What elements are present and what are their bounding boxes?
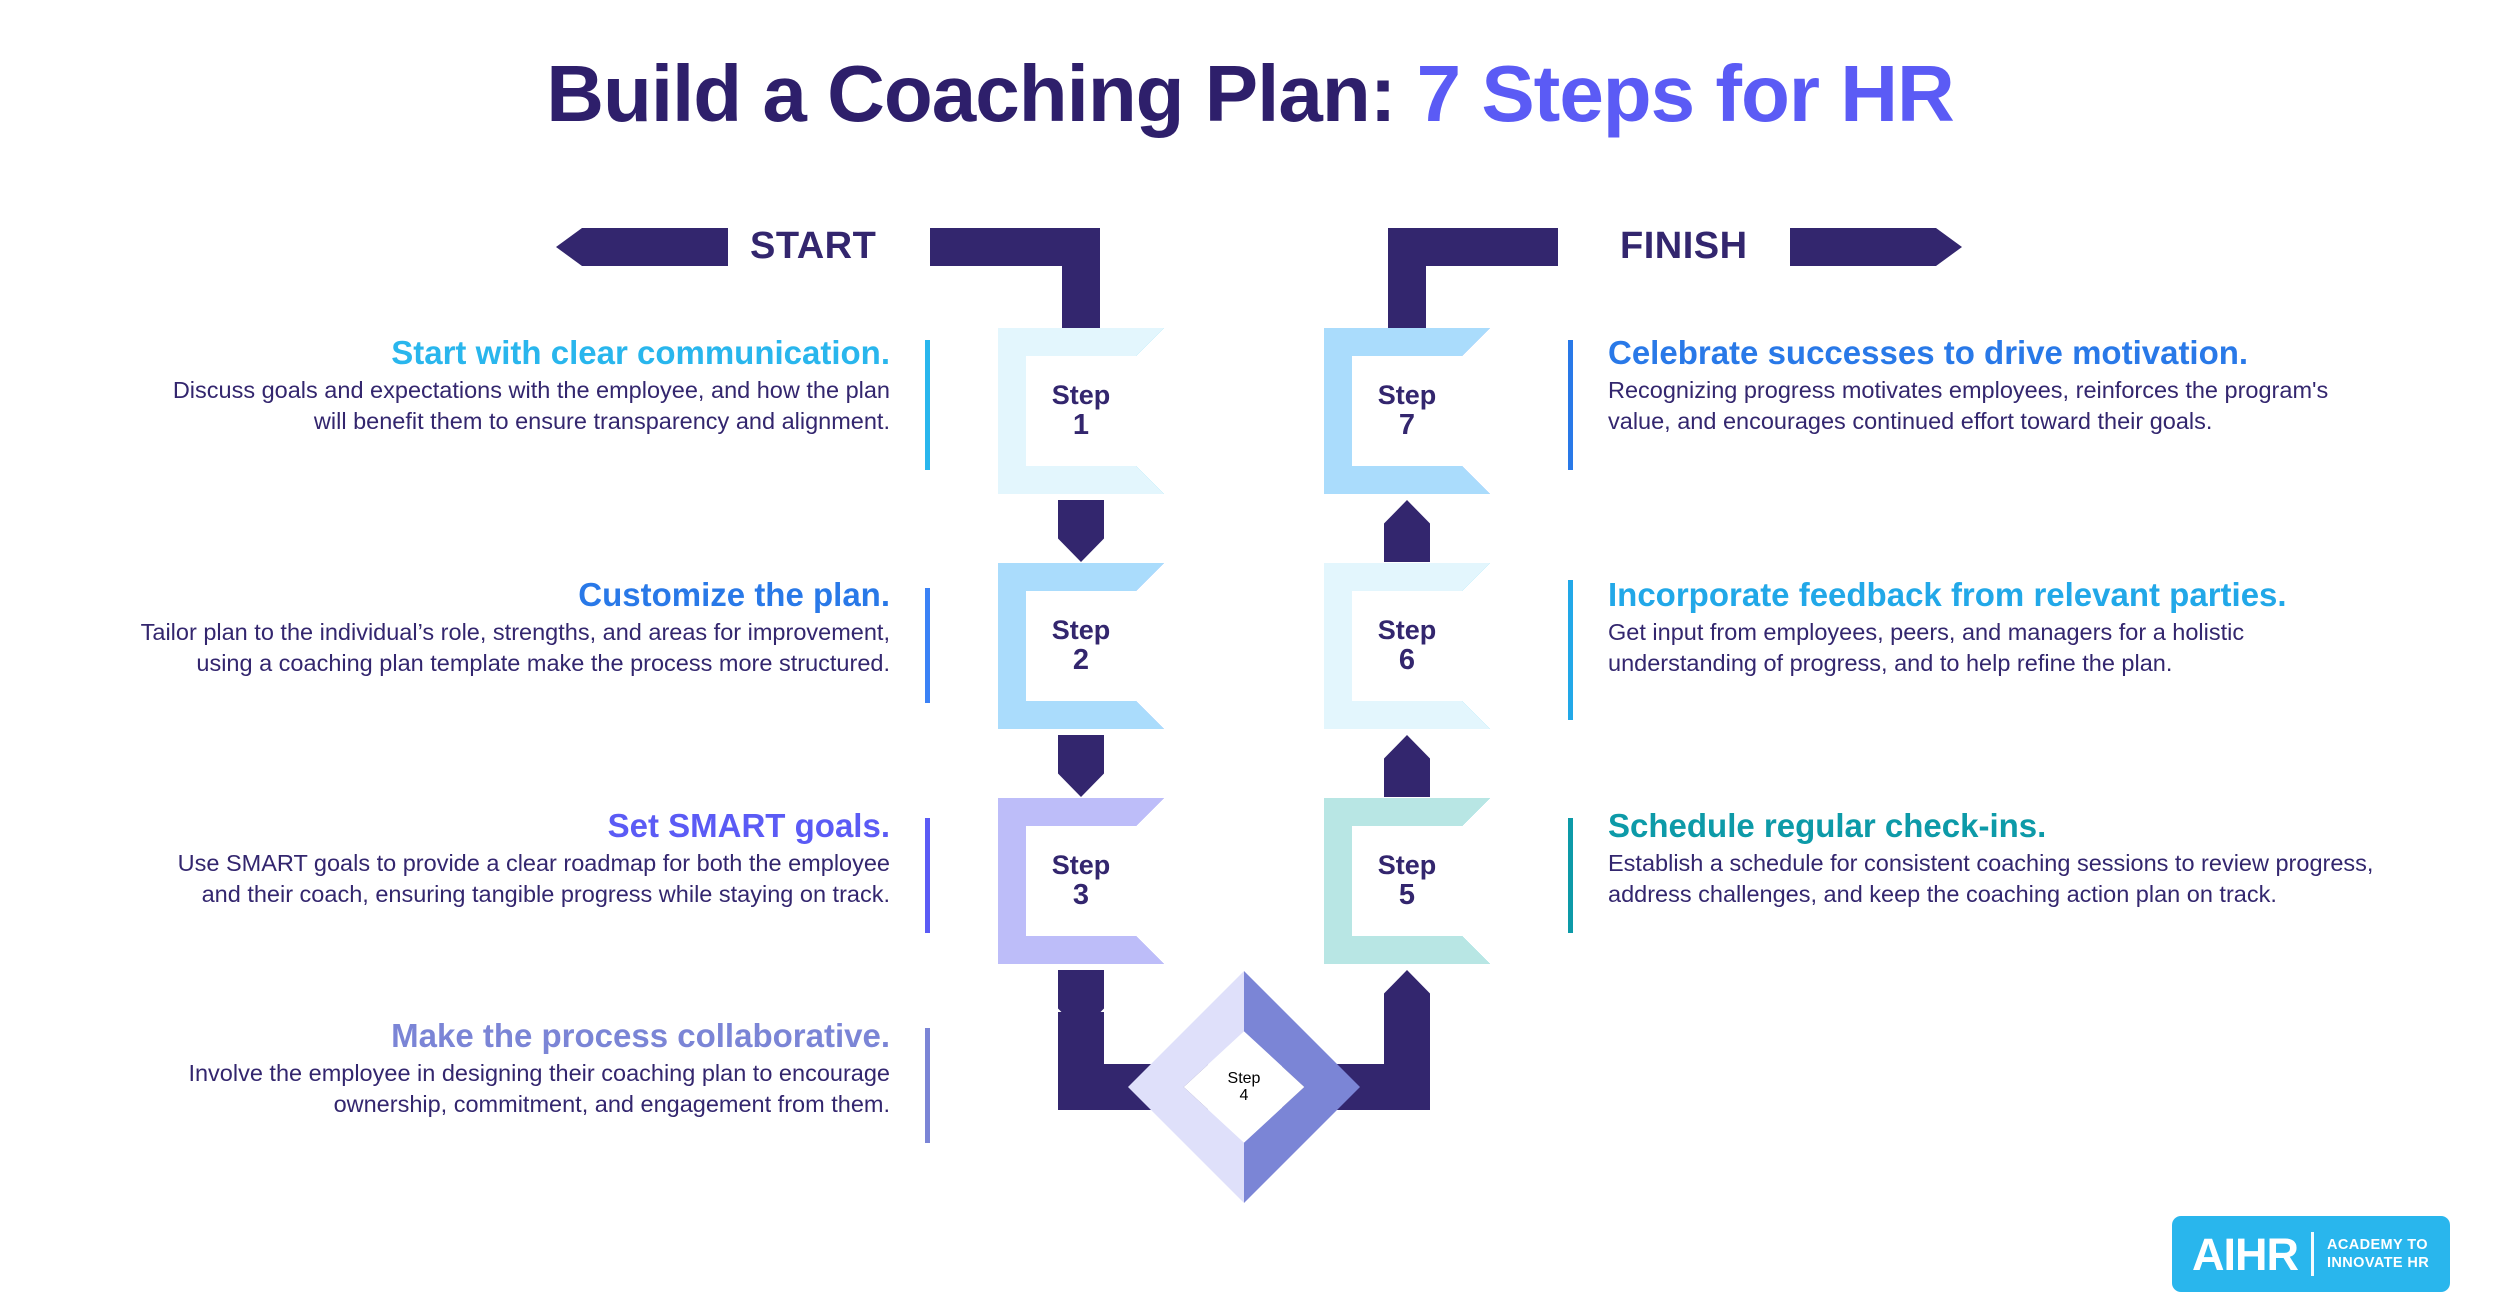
finish-arrow-head: [1790, 228, 1962, 266]
step-6-rule: [1568, 580, 1573, 720]
step-badge-5-core: Step 5: [1352, 826, 1462, 936]
step-badge-1-label: Step: [1052, 381, 1111, 410]
step-4-heading: Make the process collaborative.: [130, 1018, 890, 1055]
step-badge-3-core: Step 3: [1026, 826, 1136, 936]
step-3-rule: [925, 818, 930, 933]
step-1-rule: [925, 340, 930, 470]
step-badge-5-number: 5: [1399, 880, 1415, 911]
step-badge-3[interactable]: Step 3: [998, 798, 1164, 964]
step-7-text: Celebrate successes to drive motivation.…: [1608, 335, 2388, 437]
step-badge-4-label: Step: [1228, 1070, 1261, 1087]
connector-step2-to-step3: [1058, 735, 1104, 797]
step-4-body: Involve the employee in designing their …: [130, 1058, 890, 1121]
step-2-body: Tailor plan to the individual’s role, st…: [140, 617, 890, 680]
aihr-logo-tagline-line1: ACADEMY TO: [2327, 1236, 2429, 1254]
aihr-logo-divider: [2311, 1232, 2314, 1276]
start-arrow-tail: [556, 228, 728, 266]
step-badge-6-label: Step: [1378, 616, 1437, 645]
step-3-body: Use SMART goals to provide a clear roadm…: [140, 848, 890, 911]
connector-step6-to-step7: [1384, 500, 1430, 562]
step-5-text: Schedule regular check-ins. Establish a …: [1608, 808, 2388, 910]
step-2-text: Customize the plan. Tailor plan to the i…: [140, 577, 890, 679]
finish-connector-bar: [1388, 228, 1558, 266]
step-4-text: Make the process collaborative. Involve …: [130, 1018, 890, 1120]
step-3-text: Set SMART goals. Use SMART goals to prov…: [140, 808, 890, 910]
step-5-body: Establish a schedule for consistent coac…: [1608, 848, 2388, 911]
page-title-main: Build a Coaching Plan:: [546, 49, 1416, 138]
infographic-canvas: Build a Coaching Plan: 7 Steps for HR ST…: [0, 0, 2500, 1307]
step-7-body: Recognizing progress motivates employees…: [1608, 375, 2388, 438]
step-badge-2-number: 2: [1073, 645, 1089, 676]
step-2-heading: Customize the plan.: [140, 577, 890, 614]
connector-step1-to-step2: [1058, 500, 1104, 562]
step-badge-6-number: 6: [1399, 645, 1415, 676]
step-6-body: Get input from employees, peers, and man…: [1608, 617, 2388, 680]
step-4-rule: [925, 1028, 930, 1143]
step-badge-3-label: Step: [1052, 851, 1111, 880]
step-badge-7[interactable]: Step 7: [1324, 328, 1490, 494]
step-badge-2-core: Step 2: [1026, 591, 1136, 701]
step-badge-4-number: 4: [1240, 1087, 1249, 1104]
step-6-heading: Incorporate feedback from relevant parti…: [1608, 577, 2388, 614]
step-badge-3-number: 3: [1073, 880, 1089, 911]
step-7-heading: Celebrate successes to drive motivation.: [1608, 335, 2388, 372]
step-1-heading: Start with clear communication.: [140, 335, 890, 372]
step-badge-2[interactable]: Step 2: [998, 563, 1164, 729]
step-badge-1[interactable]: Step 1: [998, 328, 1164, 494]
step-badge-1-core: Step 1: [1026, 356, 1136, 466]
step-1-body: Discuss goals and expectations with the …: [140, 375, 890, 438]
step-5-rule: [1568, 818, 1573, 933]
step-badge-1-number: 1: [1073, 410, 1089, 441]
start-label: START: [750, 225, 876, 268]
step-1-text: Start with clear communication. Discuss …: [140, 335, 890, 437]
step-badge-4-text: Step 4: [1128, 971, 1360, 1203]
step-badge-2-label: Step: [1052, 616, 1111, 645]
aihr-logo[interactable]: AIHR ACADEMY TO INNOVATE HR: [2172, 1216, 2450, 1292]
step-5-heading: Schedule regular check-ins.: [1608, 808, 2388, 845]
finish-label: FINISH: [1620, 225, 1748, 268]
page-title: Build a Coaching Plan: 7 Steps for HR: [0, 48, 2500, 140]
connector-step5-to-step6: [1384, 735, 1430, 797]
step-2-rule: [925, 588, 930, 703]
step-badge-5-label: Step: [1378, 851, 1437, 880]
step-7-rule: [1568, 340, 1573, 470]
aihr-logo-tagline-line2: INNOVATE HR: [2327, 1254, 2429, 1272]
aihr-logo-tagline: ACADEMY TO INNOVATE HR: [2327, 1236, 2429, 1272]
step-3-heading: Set SMART goals.: [140, 808, 890, 845]
step-badge-5[interactable]: Step 5: [1324, 798, 1490, 964]
aihr-logo-mark: AIHR: [2172, 1232, 2298, 1277]
step-badge-4[interactable]: Step 4: [1128, 971, 1360, 1203]
step-badge-6[interactable]: Step 6: [1324, 563, 1490, 729]
step-badge-7-core: Step 7: [1352, 356, 1462, 466]
step-badge-6-core: Step 6: [1352, 591, 1462, 701]
page-title-accent: 7 Steps for HR: [1417, 49, 1954, 138]
step-badge-7-label: Step: [1378, 381, 1437, 410]
step-6-text: Incorporate feedback from relevant parti…: [1608, 577, 2388, 679]
step-badge-7-number: 7: [1399, 410, 1415, 441]
